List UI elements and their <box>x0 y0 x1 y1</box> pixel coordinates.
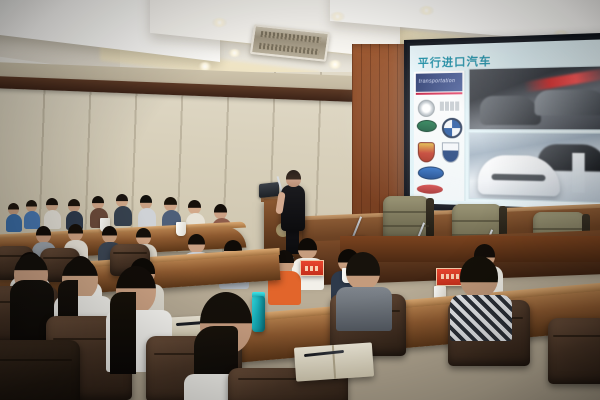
audi-logo <box>440 101 460 110</box>
open-notebook <box>294 342 374 381</box>
bmw-logo <box>442 118 462 138</box>
slide-logo-column: transportation <box>414 71 466 201</box>
ceiling-downlight <box>328 60 342 69</box>
person-torso <box>24 211 40 229</box>
slide-accent-rule <box>416 92 462 95</box>
slide-banner-text: transportation <box>419 78 456 85</box>
podium-laptop[interactable] <box>259 182 279 198</box>
person-torso <box>6 214 22 232</box>
person-head <box>140 195 152 209</box>
maserati-logo <box>442 142 459 163</box>
photo-sports-cars-with-red-stripe <box>469 65 600 130</box>
mercedes-benz-logo <box>418 100 435 117</box>
person-torso <box>450 295 512 341</box>
person-torso <box>114 206 132 226</box>
person-head <box>102 226 117 243</box>
presentation-slide: 平行进口汽车 transportation <box>410 39 600 210</box>
person-head <box>214 204 227 219</box>
person-head <box>460 256 498 298</box>
person-hair <box>110 292 136 374</box>
person-head <box>298 238 317 259</box>
paper-cup <box>176 222 186 236</box>
panel-chair[interactable] <box>383 196 429 240</box>
name-placard <box>300 260 324 276</box>
person-head <box>136 228 151 245</box>
audience-chair[interactable] <box>0 340 80 400</box>
car-silhouette-dark <box>480 96 540 125</box>
toyota-logo <box>417 184 443 194</box>
panel-chair-side <box>426 198 434 238</box>
ceiling-downlight <box>212 18 227 27</box>
ceiling-downlight <box>330 12 345 21</box>
person-head <box>188 234 205 253</box>
porsche-logo <box>418 142 435 162</box>
teal-water-bottle[interactable] <box>252 296 265 332</box>
person-head <box>164 197 177 211</box>
ceiling-downlight <box>419 6 434 15</box>
person-head <box>36 226 51 243</box>
presenter-head <box>286 170 301 187</box>
land-rover-logo <box>417 120 437 132</box>
photo-white-mustang-showroom <box>469 132 600 203</box>
person-head <box>188 200 201 214</box>
projection-screen[interactable]: 平行进口汽车 transportation <box>404 32 600 217</box>
person-head <box>68 224 83 241</box>
person-torso <box>336 287 392 331</box>
audience-chair[interactable] <box>548 318 600 384</box>
ford-logo <box>418 166 444 180</box>
showroom-pillar <box>572 152 585 193</box>
person-head <box>346 252 380 290</box>
car-silhouette-dark-2 <box>535 89 600 116</box>
person-torso <box>138 208 156 228</box>
ceiling-downlight <box>228 49 241 57</box>
slide-banner: transportation <box>416 73 462 92</box>
presenter-body <box>281 185 305 231</box>
lecture-hall-photo: 平行进口汽车 transportation <box>0 0 600 400</box>
